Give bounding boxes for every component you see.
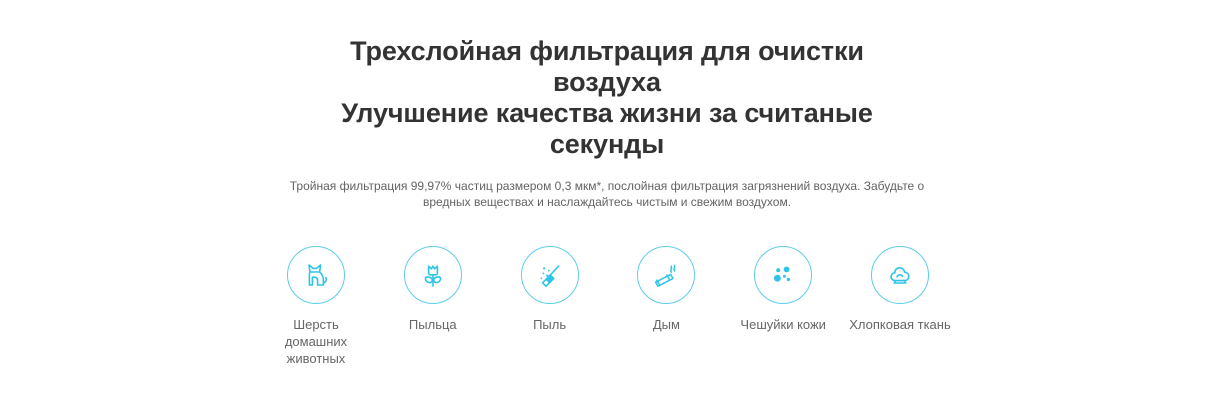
list-item-label: Пыль xyxy=(533,316,566,333)
page-title-line-2: Улучшение качества жизни за считаные сек… xyxy=(317,98,897,160)
broom-dust-icon xyxy=(521,246,579,304)
page-title-line-1: Трехслойная фильтрация для очистки возду… xyxy=(350,36,864,97)
flower-icon xyxy=(404,246,462,304)
list-item-dust[interactable]: Пыль xyxy=(492,246,608,333)
list-item-label: Шерсть домашних животных xyxy=(285,316,347,367)
list-item-skin-flakes[interactable]: Чешуйки кожи xyxy=(725,246,841,333)
list-item-smoke[interactable]: Дым xyxy=(608,246,724,333)
cat-icon xyxy=(287,246,345,304)
list-item-cotton-fabric[interactable]: Хлопковая ткань xyxy=(842,246,958,333)
list-item-pet-hair[interactable]: Шерсть домашних животных xyxy=(258,246,374,367)
list-item-label: Пыльца xyxy=(409,316,457,333)
heading-block: Трехслойная фильтрация для очистки возду… xyxy=(0,36,1214,160)
list-item-label: Хлопковая ткань xyxy=(849,316,951,333)
cotton-cloud-icon xyxy=(871,246,929,304)
list-item-label: Чешуйки кожи xyxy=(740,316,826,333)
filtered-particles-list: Шерсть домашних животных Пыльца xyxy=(258,246,958,367)
cigarette-icon xyxy=(637,246,695,304)
subtitle-block: Тройная фильтрация 99,97% частиц размеро… xyxy=(0,178,1214,210)
page-title: Трехслойная фильтрация для очистки возду… xyxy=(317,36,897,160)
subtitle-text: Тройная фильтрация 99,97% частиц размеро… xyxy=(269,178,945,210)
air-purifier-feature-section: Трехслойная фильтрация для очистки возду… xyxy=(0,0,1214,405)
skin-flakes-icon xyxy=(754,246,812,304)
list-item-pollen[interactable]: Пыльца xyxy=(375,246,491,333)
list-item-label: Дым xyxy=(653,316,680,333)
